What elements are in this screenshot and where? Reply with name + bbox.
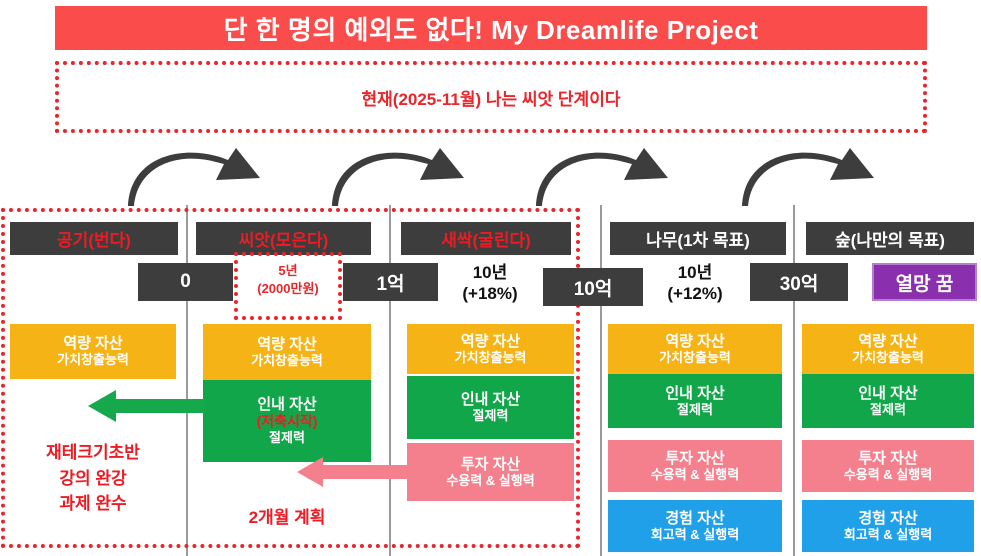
money-chip-sprout: 10억 (543, 268, 643, 306)
note-seed-plan-text: 2개월 계획 (203, 505, 371, 531)
card-seed-capability: 역량 자산 가치창출능력 (203, 324, 371, 380)
column-divider-3 (600, 205, 602, 556)
card-seed-capability-title: 역량 자산 (257, 336, 316, 353)
card-forest-experience: 경험 자산 회고력 & 실행력 (802, 500, 974, 552)
card-seed-patience-sub: 절제력 (269, 430, 305, 446)
money-chip-tree: 30억 (750, 263, 848, 301)
card-tree-capability-title: 역량 자산 (665, 333, 724, 350)
card-forest-experience-title: 경험 자산 (858, 510, 917, 527)
stage-header-tree: 나무(1차 목표) (610, 222, 786, 255)
stage-header-tree-label: 나무(1차 목표) (646, 226, 750, 251)
card-tree-experience: 경험 자산 회고력 & 실행력 (608, 500, 782, 552)
card-air-capability-title: 역량 자산 (63, 335, 122, 352)
card-tree-patience: 인내 자산 절제력 (608, 374, 782, 428)
stage-header-air: 공기(번다) (10, 222, 178, 255)
money-chip-sprout-label: 10억 (574, 274, 613, 301)
card-tree-patience-title: 인내 자산 (665, 385, 724, 402)
infographic-canvas: 단 한 명의 예외도 없다! My Dreamlife Project 현재(2… (0, 0, 981, 556)
card-tree-capability-sub: 가치창출능력 (659, 350, 731, 366)
money-chip-air: 0 (138, 263, 233, 301)
card-sprout-invest-title: 투자 자산 (461, 456, 520, 473)
money-chip-seed: 1억 (343, 263, 438, 301)
stage-header-sprout: 새싹(굴린다) (401, 222, 571, 255)
card-tree-experience-title: 경험 자산 (665, 510, 724, 527)
growth-label-tree: 10년 (+12%) (645, 262, 745, 305)
card-forest-experience-sub: 회고력 & 실행력 (844, 527, 932, 543)
stage-header-forest: 숲(나만의 목표) (806, 222, 974, 255)
card-seed-patience: 인내 자산 (저축시작) 절제력 (203, 380, 371, 462)
stage-header-seed: 씨앗(모은다) (196, 222, 371, 255)
seed-duration-amount: (2000만원) (234, 280, 342, 298)
card-forest-invest-sub: 수용력 & 실행력 (844, 467, 932, 483)
card-sprout-patience-sub: 절제력 (473, 408, 509, 424)
note-air-action-3: 과제 완수 (8, 491, 178, 517)
card-forest-invest-title: 투자 자산 (858, 450, 917, 467)
card-air-capability: 역량 자산 가치창출능력 (10, 324, 176, 379)
note-air-action-1: 재테크기초반 (8, 440, 178, 466)
growth-label-sprout-rate: (+18%) (440, 283, 540, 304)
card-forest-invest: 투자 자산 수용력 & 실행력 (802, 440, 974, 492)
arrow-tree-to-forest-icon (742, 148, 890, 208)
stage-header-sprout-label: 새싹(굴린다) (441, 226, 531, 251)
card-forest-patience-title: 인내 자산 (858, 385, 917, 402)
seed-duration-years: 5년 (234, 262, 342, 280)
stage-header-air-label: 공기(번다) (57, 226, 131, 251)
card-sprout-invest-sub: 수용력 & 실행력 (446, 473, 534, 489)
card-tree-patience-sub: 절제력 (677, 402, 713, 418)
card-sprout-capability-title: 역량 자산 (461, 333, 520, 350)
card-forest-capability: 역량 자산 가치창출능력 (802, 324, 974, 374)
column-divider-4 (793, 205, 795, 556)
card-tree-invest: 투자 자산 수용력 & 실행력 (608, 440, 782, 492)
money-chip-forest-label: 열망 꿈 (896, 269, 954, 296)
note-air-action-2: 강의 완강 (8, 466, 178, 492)
growth-label-sprout-years: 10년 (440, 262, 540, 283)
title-banner: 단 한 명의 예외도 없다! My Dreamlife Project (55, 6, 927, 50)
card-forest-patience: 인내 자산 절제력 (802, 374, 974, 428)
money-chip-seed-label: 1억 (376, 269, 404, 296)
card-tree-experience-sub: 회고력 & 실행력 (651, 527, 739, 543)
money-chip-tree-label: 30억 (780, 269, 819, 296)
card-tree-capability: 역량 자산 가치창출능력 (608, 324, 782, 374)
card-air-capability-sub: 가치창출능력 (57, 352, 129, 368)
growth-label-tree-years: 10년 (645, 262, 745, 283)
column-divider-2 (389, 205, 391, 556)
card-sprout-capability-sub: 가치창출능력 (455, 350, 527, 366)
growth-label-sprout: 10년 (+18%) (440, 262, 540, 305)
card-tree-invest-sub: 수용력 & 실행력 (651, 467, 739, 483)
card-forest-patience-sub: 절제력 (870, 402, 906, 418)
current-status-text: 현재(2025-11월) 나는 씨앗 단계이다 (362, 85, 621, 110)
seed-duration-note: 5년 (2000만원) (234, 262, 342, 297)
card-sprout-patience: 인내 자산 절제력 (407, 376, 574, 439)
card-seed-patience-title: 인내 자산 (257, 396, 316, 413)
arrow-air-to-seed-icon (128, 148, 276, 208)
current-status-box: 현재(2025-11월) 나는 씨앗 단계이다 (55, 61, 927, 133)
note-air-actions: 재테크기초반 강의 완강 과제 완수 (8, 440, 178, 517)
card-sprout-capability: 역량 자산 가치창출능력 (407, 324, 574, 374)
arrow-sprout-to-seed-icon (297, 455, 421, 489)
card-seed-patience-extra: (저축시작) (257, 413, 318, 430)
page-title: 단 한 명의 예외도 없다! My Dreamlife Project (224, 10, 759, 47)
arrow-seed-to-sprout-icon (332, 148, 480, 208)
stage-header-seed-label: 씨앗(모은다) (239, 226, 329, 251)
money-chip-air-label: 0 (180, 271, 191, 293)
card-forest-capability-sub: 가치창출능력 (852, 350, 924, 366)
note-seed-plan: 2개월 계획 (203, 505, 371, 531)
card-sprout-invest: 투자 자산 수용력 & 실행력 (407, 443, 574, 501)
card-tree-invest-title: 투자 자산 (665, 450, 724, 467)
arrow-sprout-to-tree-icon (536, 148, 684, 208)
card-sprout-patience-title: 인내 자산 (461, 391, 520, 408)
card-seed-capability-sub: 가치창출능력 (251, 353, 323, 369)
arrow-seed-to-air-icon (88, 388, 206, 424)
stage-header-forest-label: 숲(나만의 목표) (835, 226, 945, 251)
growth-label-tree-rate: (+12%) (645, 283, 745, 304)
card-forest-capability-title: 역량 자산 (858, 333, 917, 350)
money-chip-forest: 열망 꿈 (872, 263, 977, 301)
column-divider-1 (186, 205, 188, 556)
